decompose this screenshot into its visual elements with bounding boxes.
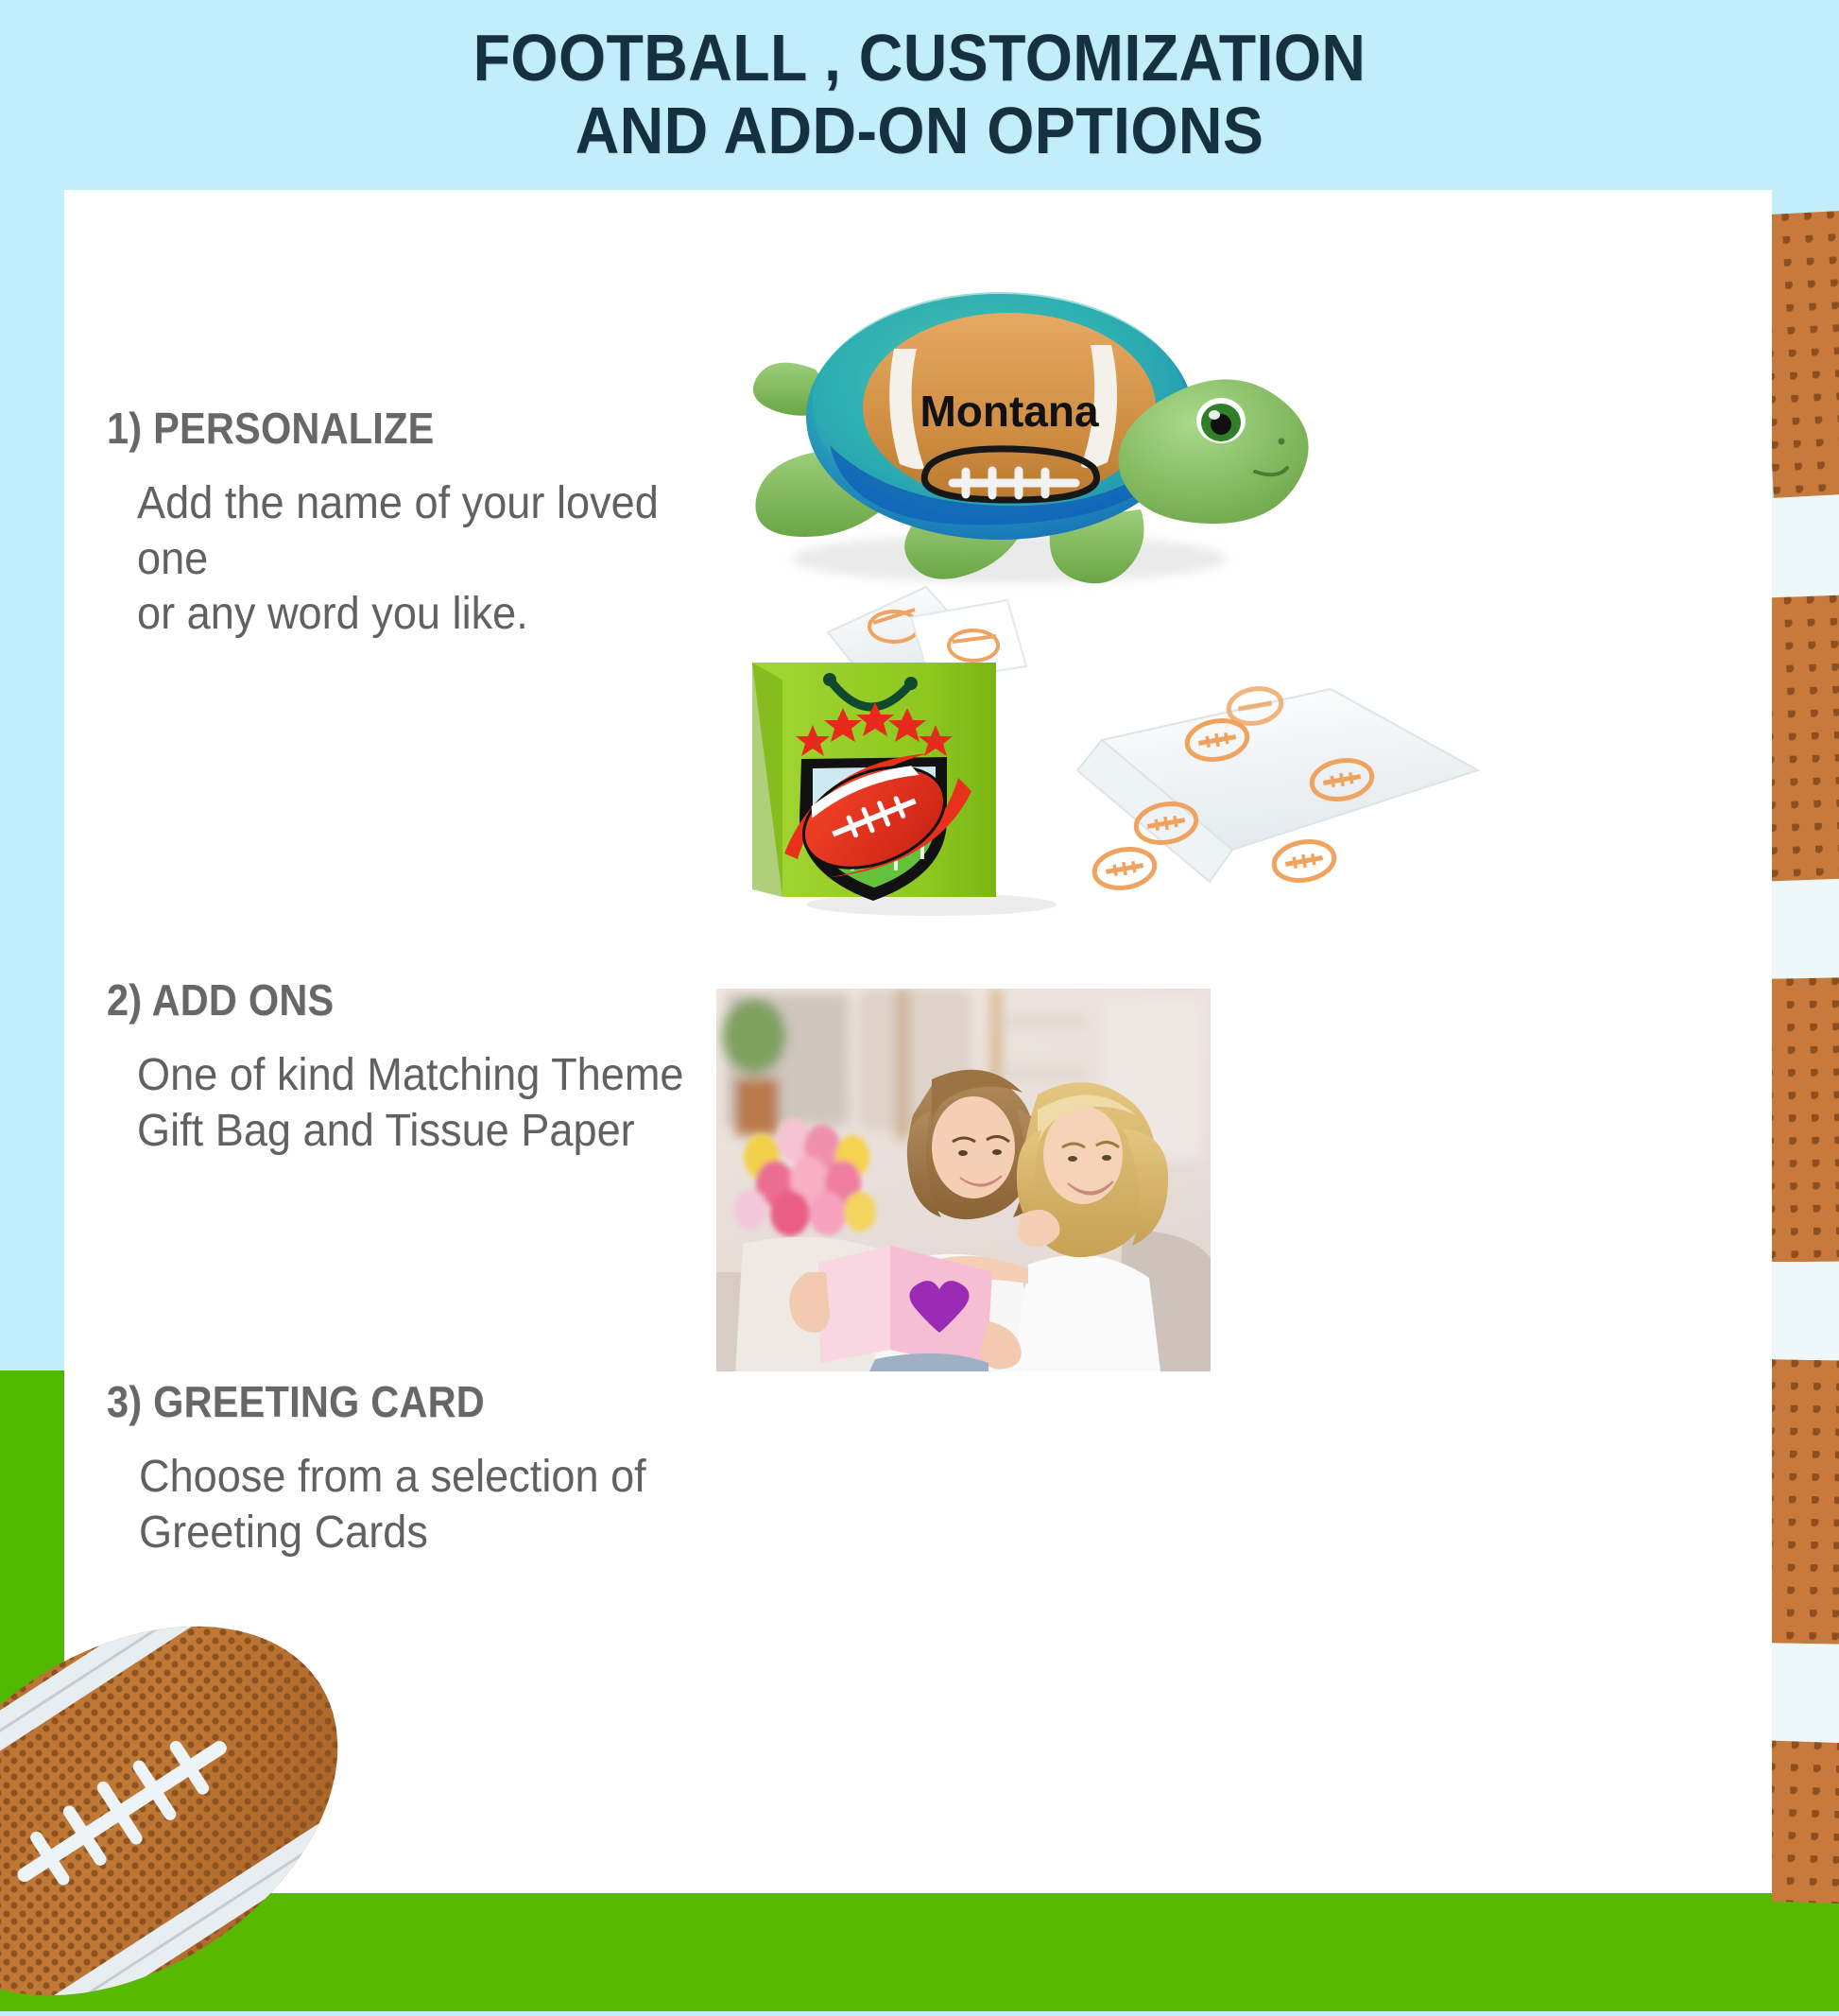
step-2-body: One of kind Matching Theme Gift Bag and … xyxy=(137,1048,730,1159)
texture-segment xyxy=(1772,977,1839,1263)
texture-segment xyxy=(1772,595,1839,882)
plush-turtle-image: Montana xyxy=(726,247,1331,606)
step-greeting-card: 3) GREETING CARD Choose from a selection… xyxy=(107,1376,768,1560)
texture-segment xyxy=(1772,1740,1839,1904)
texture-segment xyxy=(1772,211,1839,498)
football-decoration-bottom-left xyxy=(0,1588,435,2011)
texture-white-band xyxy=(1772,878,1839,979)
step-3-body: Choose from a selection of Greeting Card… xyxy=(139,1450,730,1560)
texture-white-band xyxy=(1772,1643,1839,1743)
step-add-ons: 2) ADD ONS One of kind Matching Theme Gi… xyxy=(107,974,768,1159)
plush-personalized-name: Montana xyxy=(919,387,1099,436)
texture-white-band xyxy=(1772,494,1839,599)
greeting-card-photo xyxy=(716,989,1211,1371)
step-3-heading: 3) GREETING CARD xyxy=(107,1376,702,1427)
texture-segment xyxy=(1772,1359,1839,1645)
tissue-paper-sheets xyxy=(1077,684,1480,892)
gift-bag-and-tissue-image xyxy=(726,568,1501,946)
infographic-root: FOOTBALL , CUSTOMIZATION AND ADD-ON OPTI… xyxy=(0,0,1839,2011)
page-title: FOOTBALL , CUSTOMIZATION AND ADD-ON OPTI… xyxy=(74,0,1765,189)
step-personalize: 1) PERSONALIZE Add the name of your love… xyxy=(107,403,768,643)
step-1-body: Add the name of your loved one or any wo… xyxy=(137,476,730,643)
football-texture-right-stripe xyxy=(1772,0,1839,2011)
texture-white-band xyxy=(1772,1262,1839,1360)
page-title-line-1: FOOTBALL , CUSTOMIZATION xyxy=(473,25,1366,92)
step-2-heading: 2) ADD ONS xyxy=(107,974,702,1025)
page-title-line-2: AND ADD-ON OPTIONS xyxy=(576,97,1264,164)
step-1-heading: 1) PERSONALIZE xyxy=(107,403,702,454)
